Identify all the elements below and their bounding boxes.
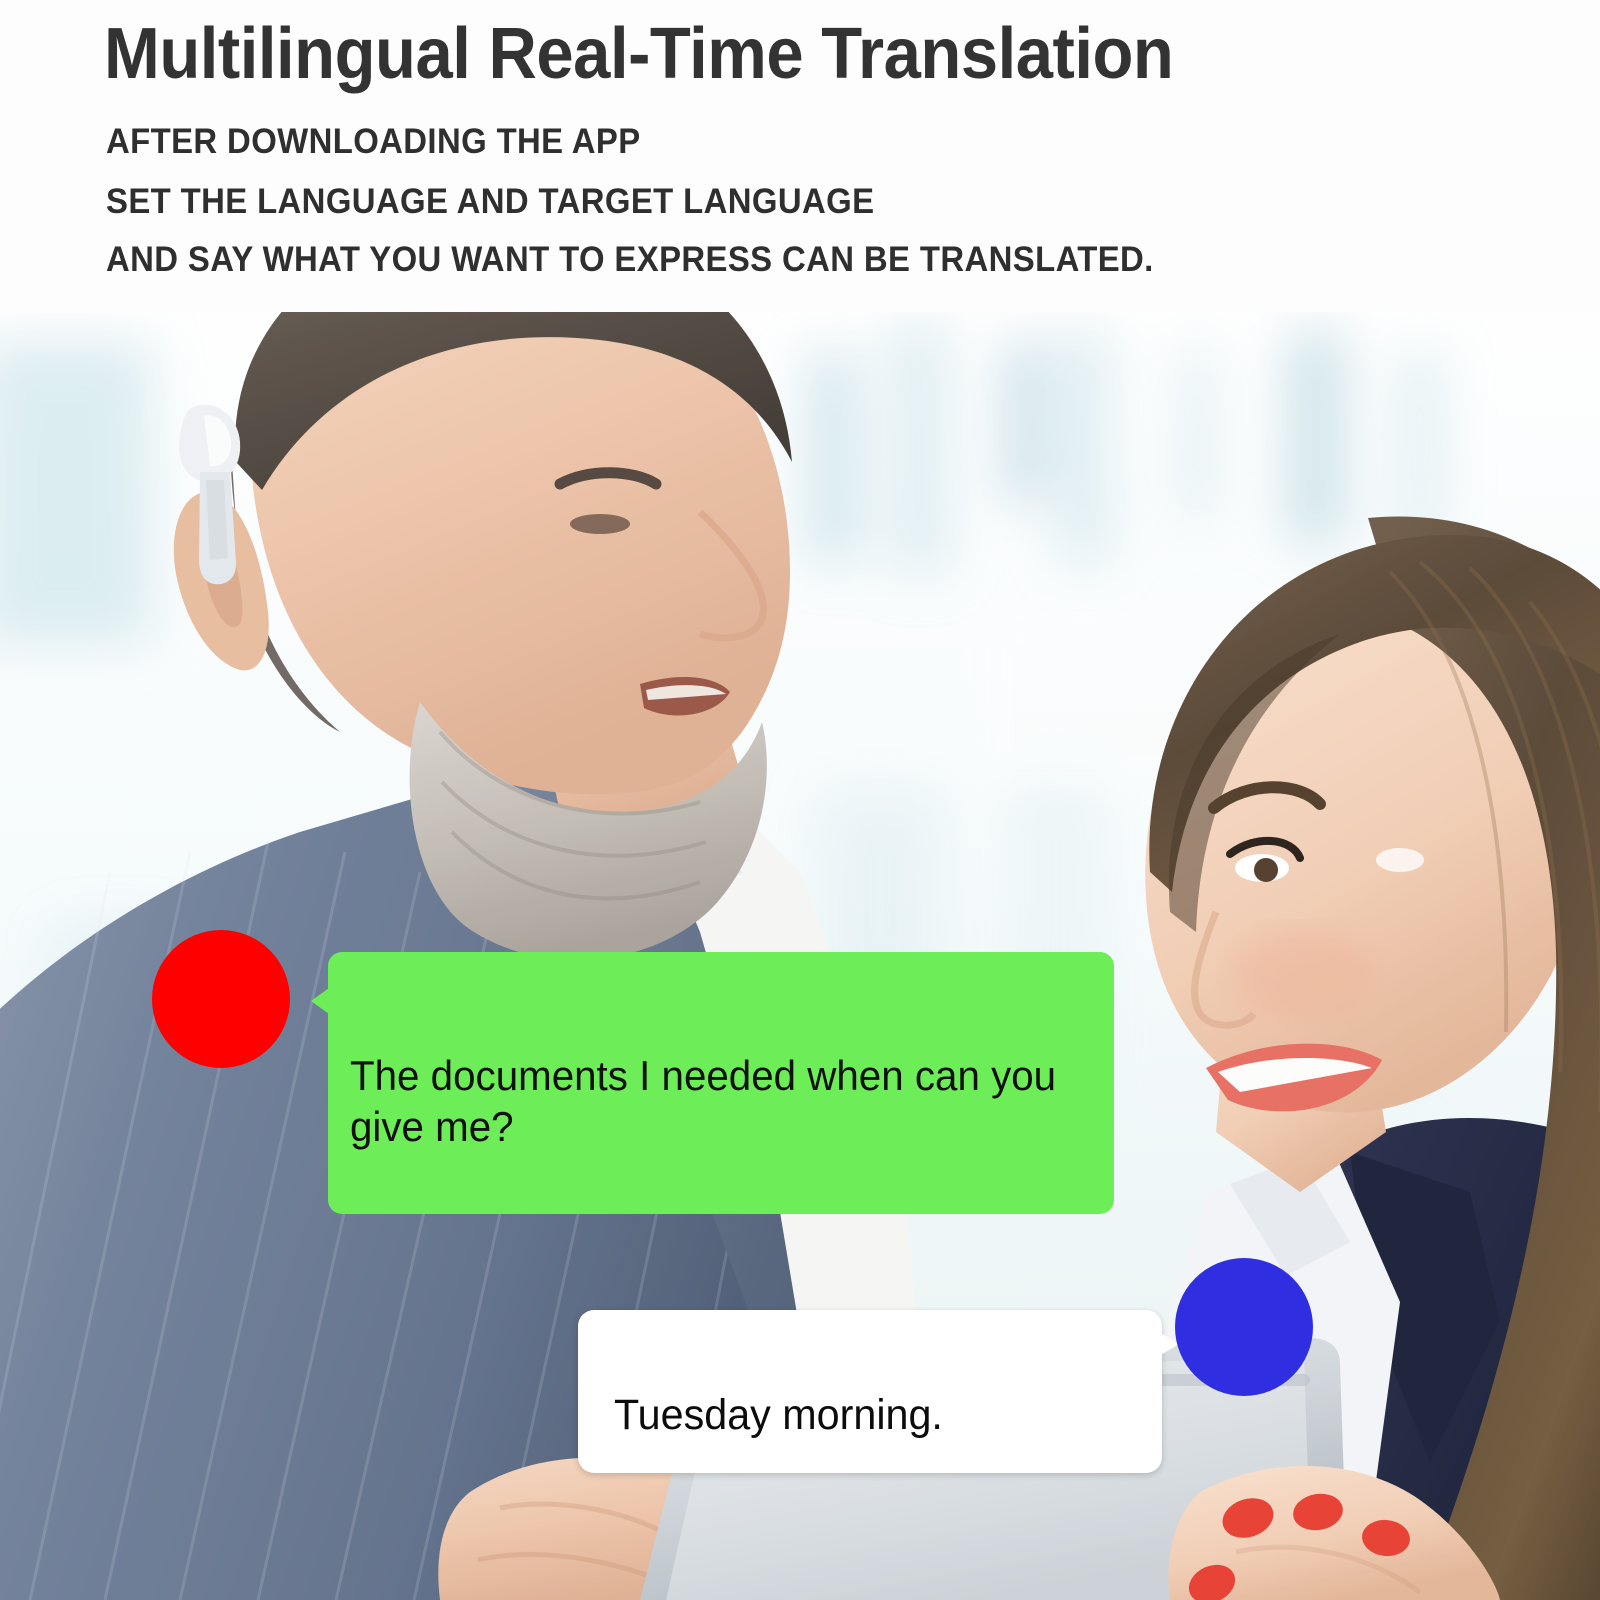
header-line-2: SET THE LANGUAGE AND TARGET LANGUAGE	[106, 182, 874, 222]
header-line-1: AFTER DOWNLOADING THE APP	[106, 122, 641, 162]
speaker-marker-red-dot	[152, 930, 290, 1068]
promo-image: Multilingual Real-Time Translation AFTER…	[0, 0, 1600, 1600]
chat-bubble-outgoing-text: The documents I needed when can you give…	[350, 1050, 1068, 1152]
header-line-3: AND SAY WHAT YOU WANT TO EXPRESS CAN BE …	[106, 240, 1154, 280]
page-title: Multilingual Real-Time Translation	[104, 18, 1173, 90]
chat-bubble-incoming: Tuesday morning.	[578, 1310, 1162, 1473]
speaker-marker-blue-dot	[1175, 1258, 1313, 1396]
header-text-block: Multilingual Real-Time Translation AFTER…	[0, 0, 1600, 312]
bubble-tail-left-icon	[311, 988, 329, 1014]
chat-bubble-incoming-text: Tuesday morning.	[614, 1392, 943, 1439]
chat-bubble-outgoing: The documents I needed when can you give…	[328, 952, 1114, 1214]
